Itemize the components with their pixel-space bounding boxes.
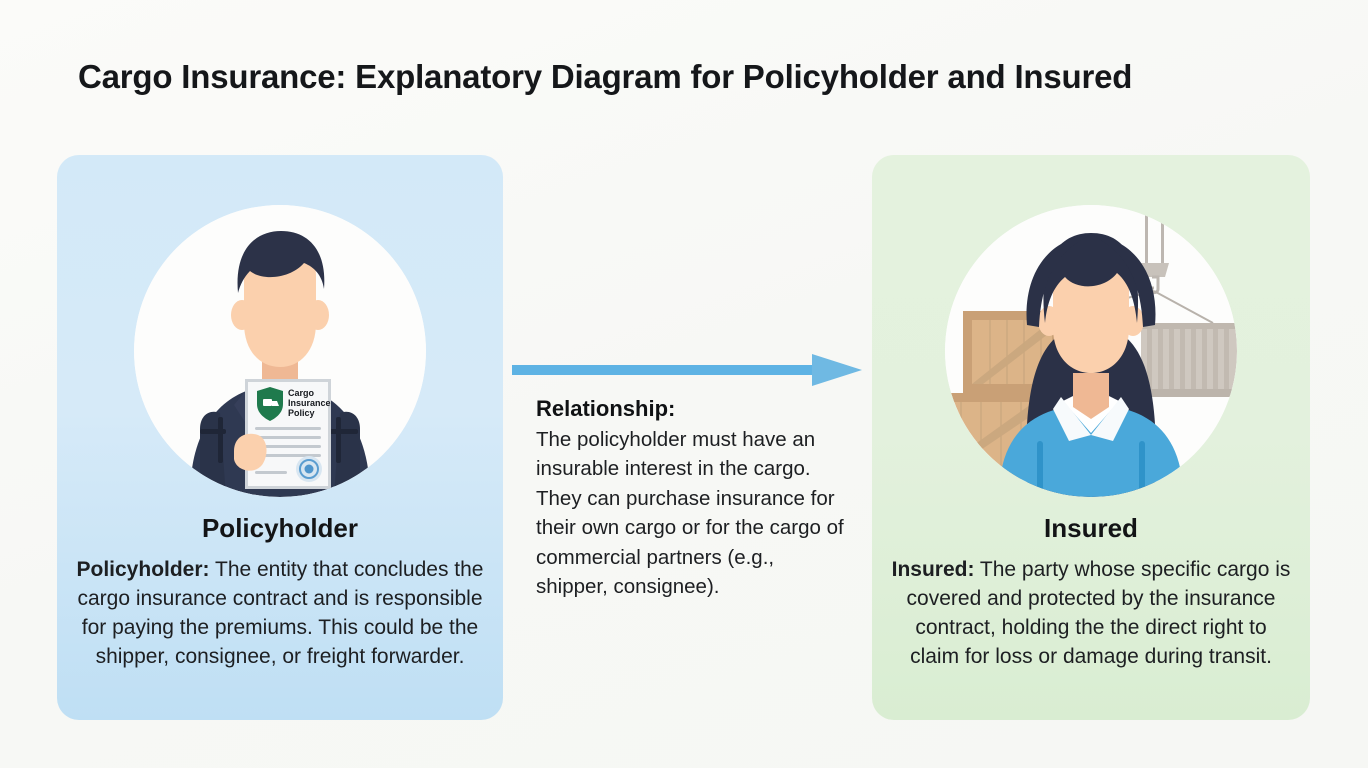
policyholder-illustration: Cargo Insurance Policy: [134, 205, 426, 497]
relationship-text: The policyholder must have an insurable …: [536, 428, 844, 599]
insured-heading: Insured: [872, 513, 1310, 544]
policyholder-body-label: Policyholder:: [77, 558, 210, 581]
policyholder-description: Policyholder: The entity that concludes …: [75, 555, 485, 671]
businessman-illustration-svg: Cargo Insurance Policy: [134, 205, 426, 497]
page-title: Cargo Insurance: Explanatory Diagram for…: [78, 58, 1308, 96]
insured-body-label: Insured:: [892, 558, 975, 581]
svg-text:Insurance: Insurance: [288, 398, 331, 408]
diagram-canvas: Cargo Insurance: Explanatory Diagram for…: [0, 0, 1368, 768]
policyholder-heading: Policyholder: [57, 513, 503, 544]
insured-card: Insured Insured: The party whose specifi…: [872, 155, 1310, 720]
insured-description: Insured: The party whose specific cargo …: [890, 555, 1292, 671]
insured-illustration: [945, 205, 1237, 497]
arrow-icon: [512, 352, 862, 388]
policyholder-card: Cargo Insurance Policy: [57, 155, 503, 720]
relationship-title: Relationship:: [536, 394, 846, 424]
svg-text:Cargo: Cargo: [288, 388, 315, 398]
svg-text:Policy: Policy: [288, 408, 315, 418]
relationship-arrow: [512, 352, 862, 388]
shipping-container: [1141, 323, 1237, 397]
relationship-description: Relationship:The policyholder must have …: [536, 394, 846, 602]
policy-document: Cargo Insurance Policy: [245, 379, 331, 489]
woman-cargo-illustration-svg: [945, 205, 1237, 497]
